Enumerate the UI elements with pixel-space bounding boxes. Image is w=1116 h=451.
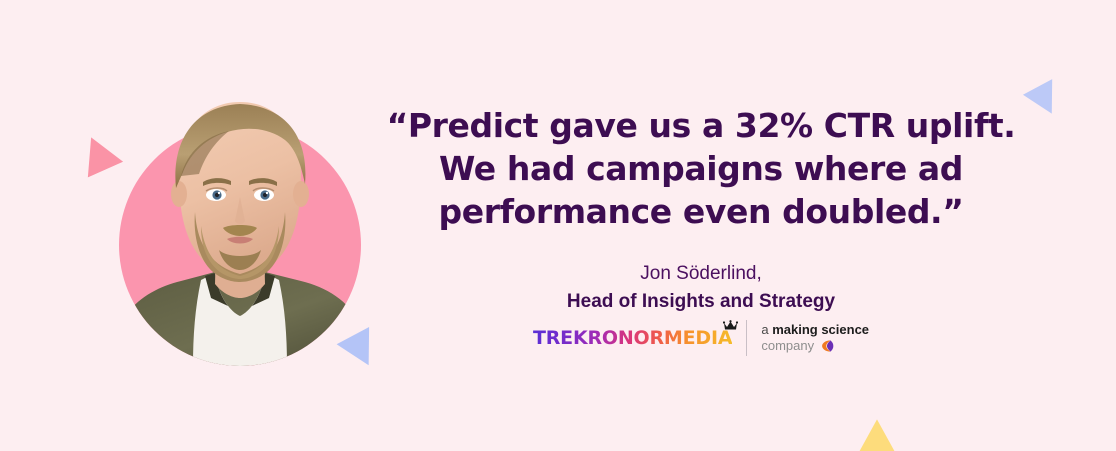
making-science-line-2: company (761, 338, 869, 354)
blue-triangle-right-decoration (1020, 75, 1069, 124)
crown-icon (723, 320, 738, 331)
brand-wordmark: TREKRONORMEDIA (533, 329, 732, 348)
ms-prefix: a (761, 322, 772, 337)
making-science-line-1: a making science (761, 322, 869, 338)
logo-inner: TREKRONORMEDIA a making science company (533, 320, 869, 356)
yellow-triangle-decoration (840, 418, 914, 451)
quote-text: “Predict gave us a 32% CTR uplift. We ha… (386, 104, 1016, 233)
trekronormedia-logo[interactable]: TREKRONORMEDIA (533, 329, 746, 348)
logo-divider (746, 320, 747, 356)
ms-strong: making science (772, 322, 869, 337)
author-name: Jon Söderlind, (386, 261, 1016, 287)
author-role: Head of Insights and Strategy (386, 289, 1016, 315)
making-science-mark-icon (820, 339, 834, 353)
avatar (119, 84, 361, 366)
portrait-illustration (119, 84, 361, 366)
quote-block: “Predict gave us a 32% CTR uplift. We ha… (386, 104, 1016, 233)
ms-company-word: company (761, 338, 814, 354)
testimonial-card: “Predict gave us a 32% CTR uplift. We ha… (0, 0, 1116, 451)
attribution: Jon Söderlind, Head of Insights and Stra… (386, 261, 1016, 315)
making-science-logo[interactable]: a making science company (761, 322, 869, 354)
avatar-photo-clip (119, 84, 361, 366)
logo-lockup: TREKRONORMEDIA a making science company (386, 320, 1016, 356)
